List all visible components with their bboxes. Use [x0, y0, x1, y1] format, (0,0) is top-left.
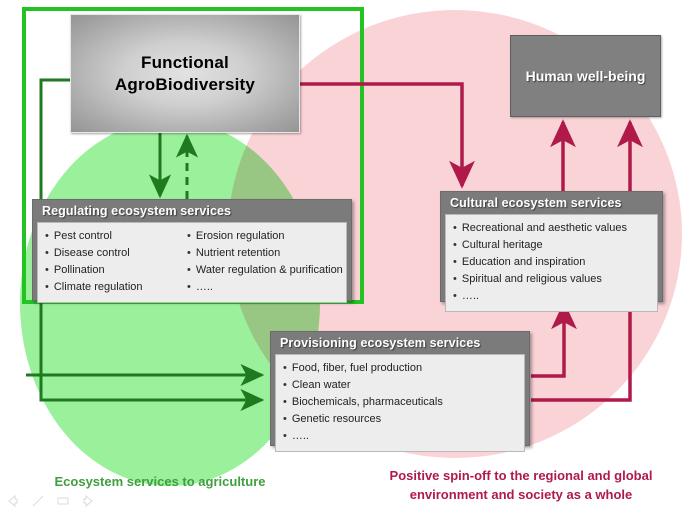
regulating-box-body: Pest control Disease control Pollination…: [37, 222, 347, 303]
list-item: Clean water: [283, 377, 517, 394]
functional-agrobiodiversity-label: Functional AgroBiodiversity: [115, 52, 255, 95]
pencil-icon[interactable]: [31, 494, 45, 513]
list-item: Nutrient retention: [187, 245, 343, 262]
diagram-canvas: Functional AgroBiodiversity Human well-b…: [0, 0, 691, 518]
pink-caption-line-2: environment and society as a whole: [356, 485, 686, 504]
rectangle-icon[interactable]: [56, 494, 70, 513]
list-item: Cultural heritage: [453, 237, 650, 254]
green-circle-caption: Ecosystem services to agriculture: [10, 474, 310, 489]
fab-to-cultural-arrow: [296, 84, 462, 186]
list-item: Recreational and aesthetic values: [453, 220, 650, 237]
provisioning-box-title: Provisioning ecosystem services: [271, 332, 529, 354]
back-arrow-icon[interactable]: [6, 494, 20, 513]
list-item: …..: [453, 288, 650, 305]
list-item: Climate regulation: [45, 279, 187, 296]
list-item: Erosion regulation: [187, 228, 343, 245]
pink-caption-line-1: Positive spin-off to the regional and gl…: [356, 466, 686, 485]
pink-circle-caption: Positive spin-off to the regional and gl…: [356, 466, 686, 504]
provisioning-box-body: Food, fiber, fuel production Clean water…: [275, 354, 525, 452]
functional-agrobiodiversity-node[interactable]: Functional AgroBiodiversity: [70, 14, 300, 133]
cultural-box-body: Recreational and aesthetic values Cultur…: [445, 214, 658, 312]
list-item: Food, fiber, fuel production: [283, 360, 517, 377]
regulating-list-column-1: Pest control Disease control Pollination…: [45, 228, 187, 296]
provisioning-ecosystem-services-box[interactable]: Provisioning ecosystem services Food, fi…: [270, 331, 530, 446]
list-item: Education and inspiration: [453, 254, 650, 271]
list-item: Spiritual and religious values: [453, 271, 650, 288]
cultural-box-title: Cultural ecosystem services: [441, 192, 662, 214]
list-item: …..: [283, 428, 517, 445]
mini-toolbar: [6, 494, 95, 513]
list-item: Pest control: [45, 228, 187, 245]
cultural-ecosystem-services-box[interactable]: Cultural ecosystem services Recreational…: [440, 191, 663, 302]
list-item: Water regulation & purification: [187, 262, 343, 279]
human-well-being-label: Human well-being: [526, 68, 646, 84]
list-item: …..: [187, 279, 343, 296]
regulating-ecosystem-services-box[interactable]: Regulating ecosystem services Pest contr…: [32, 199, 352, 301]
provisioning-right-riser-path: [531, 305, 630, 400]
regulating-list-column-2: Erosion regulation Nutrient retention Wa…: [187, 228, 343, 296]
list-item: Disease control: [45, 245, 187, 262]
forward-arrow-icon[interactable]: [81, 494, 95, 513]
list-item: Biochemicals, pharmaceuticals: [283, 394, 517, 411]
provisioning-to-cultural-arrow: [531, 304, 564, 376]
regulating-box-title: Regulating ecosystem services: [33, 200, 351, 222]
human-well-being-node[interactable]: Human well-being: [510, 35, 661, 117]
provisioning-list: Food, fiber, fuel production Clean water…: [283, 360, 517, 445]
list-item: Genetic resources: [283, 411, 517, 428]
cultural-list: Recreational and aesthetic values Cultur…: [453, 220, 650, 305]
list-item: Pollination: [45, 262, 187, 279]
